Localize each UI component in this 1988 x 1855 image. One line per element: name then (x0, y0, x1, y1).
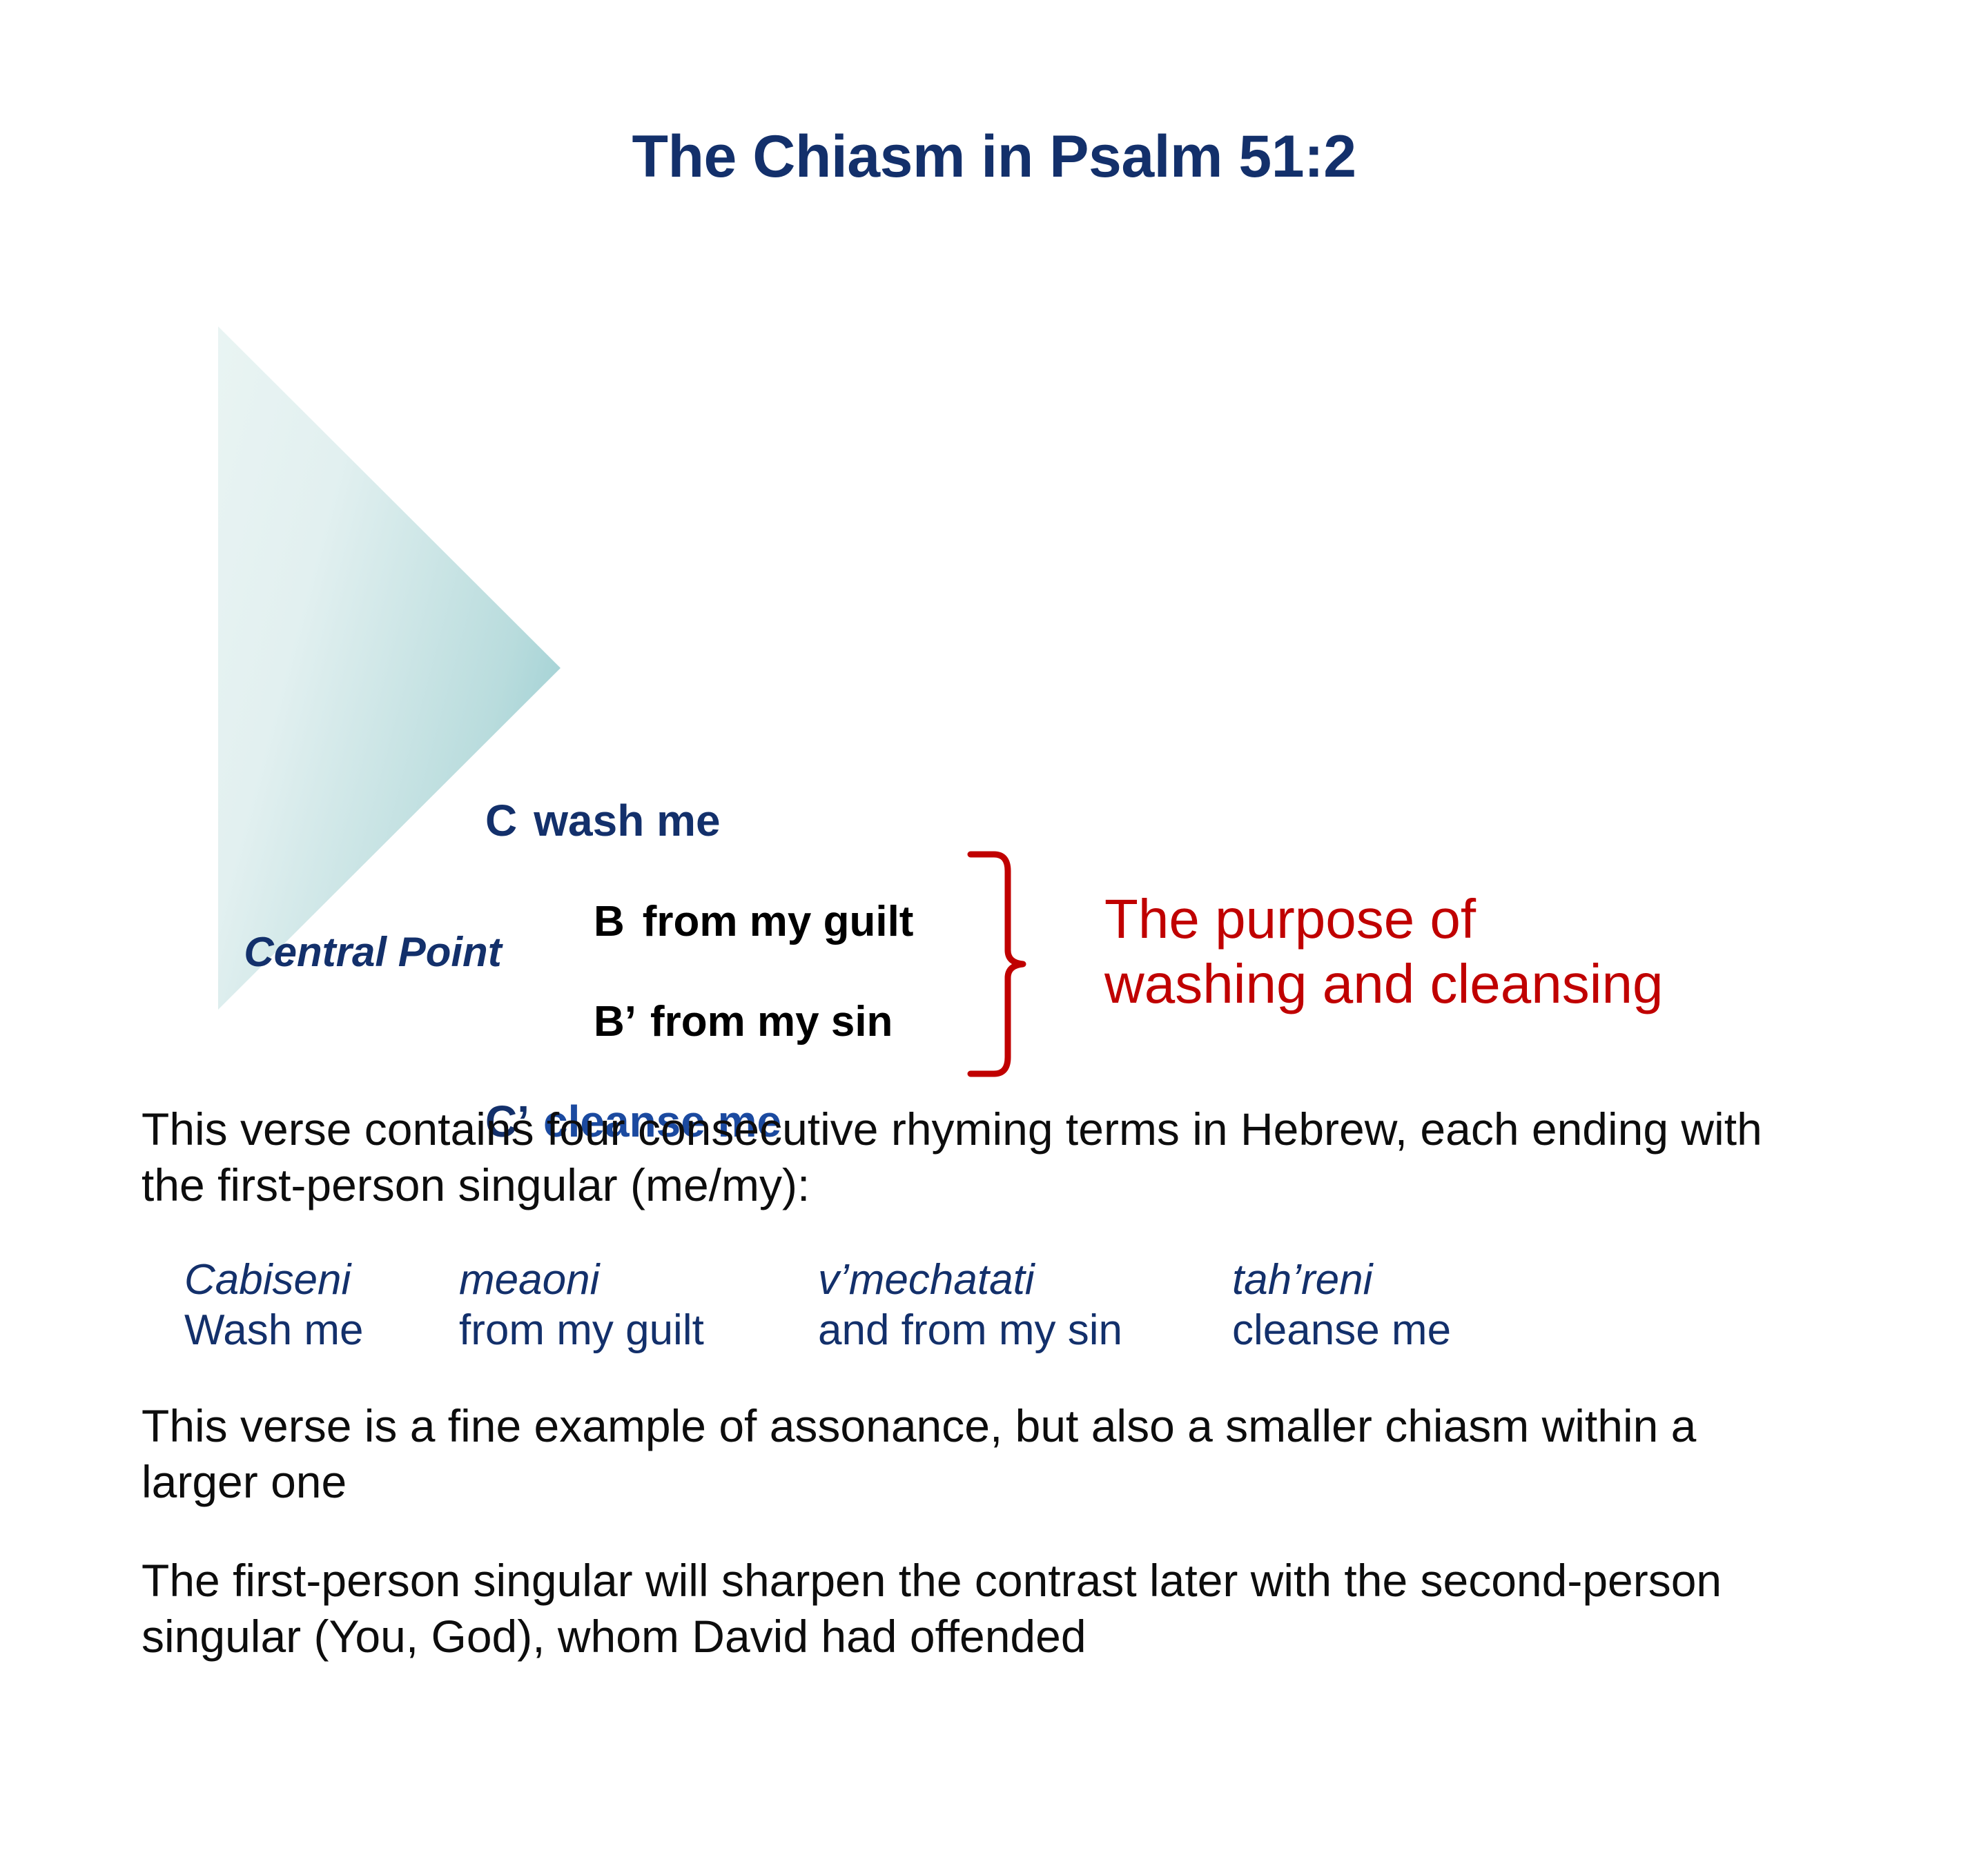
purpose-annotation-line-1: The purpose of (1104, 887, 1919, 952)
purpose-annotation: The purpose of washing and cleansing (1104, 887, 1919, 1017)
chiasm-tag-b: B (594, 897, 625, 946)
gloss-translation-3: and from my sin (818, 1306, 1232, 1355)
purpose-annotation-line-2: washing and cleansing (1104, 952, 1919, 1017)
chiasm-phrase-b-prime: from my sin (650, 998, 893, 1046)
chiasm-line-b: Bfrom my guilt (594, 897, 913, 946)
gloss-translation-1: Wash me (184, 1306, 459, 1355)
gloss-translation-2: from my guilt (459, 1306, 818, 1355)
gloss-row-translation: Wash me from my guilt and from my sin cl… (184, 1306, 1853, 1355)
chiasm-tag-c: C (485, 795, 517, 846)
gloss-transliteration-2: meaoni (459, 1256, 818, 1305)
chiasm-line-b-prime: B’from my sin (594, 997, 893, 1046)
body-paragraph-3: The first-person singular will sharpen t… (142, 1553, 1812, 1665)
chiasm-phrase-b: from my guilt (643, 898, 914, 945)
body-copy: This verse contains four consecutive rhy… (142, 1101, 1853, 1707)
gloss-translation-4: cleanse me (1232, 1306, 1550, 1355)
right-curly-brace-icon (965, 850, 1062, 1078)
gloss-transliteration-1: Cabiseni (184, 1256, 459, 1305)
chiasm-phrase-c: wash me (534, 796, 720, 845)
gloss-transliteration-4: tah’reni (1232, 1256, 1550, 1305)
central-point-label: Central Point (228, 928, 518, 976)
gloss-row-transliteration: Cabiseni meaoni v’mechatati tah’reni (184, 1256, 1853, 1305)
chiasm-line-c: Cwash me (485, 795, 721, 846)
central-point-triangle (218, 326, 561, 1010)
body-paragraph-2: This verse is a fine example of assonanc… (142, 1398, 1812, 1510)
body-paragraph-1: This verse contains four consecutive rhy… (142, 1101, 1812, 1213)
chiasm-diagram: Central Point Cwash me Bfrom my guilt B’… (0, 304, 1988, 1035)
gloss-transliteration-3: v’mechatati (818, 1256, 1232, 1305)
chiasm-tag-b-prime: B’ (594, 997, 636, 1046)
page-title: The Chiasm in Psalm 51:2 (0, 123, 1988, 191)
hebrew-gloss-table: Cabiseni meaoni v’mechatati tah’reni Was… (142, 1256, 1853, 1355)
